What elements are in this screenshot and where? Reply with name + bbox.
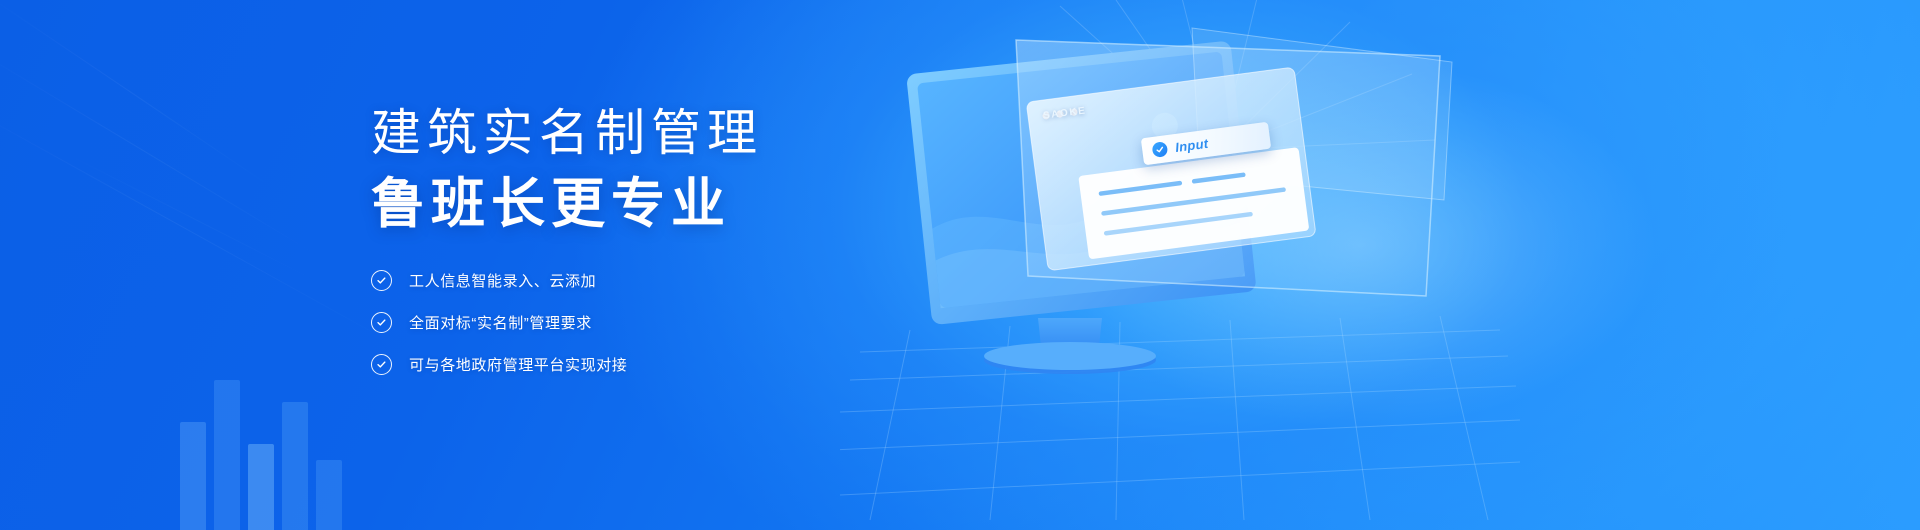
check-circle-icon: [371, 354, 392, 375]
check-circle-icon: [1151, 141, 1168, 158]
hero-copy: 建筑实名制管理 鲁班长更专业 工人信息智能录入、云添加 全面对标“实名制”管理要…: [371, 104, 891, 392]
floor-grid: [840, 316, 1520, 520]
feature-item: 可与各地政府管理平台实现对接: [371, 350, 891, 378]
headline-primary: 建筑实名制管理: [371, 104, 891, 162]
monitor-base-top: [984, 342, 1156, 370]
feature-label: 全面对标“实名制”管理要求: [409, 312, 592, 333]
feature-label: 工人信息智能录入、云添加: [409, 270, 596, 291]
headline-secondary: 鲁班长更专业: [371, 174, 891, 234]
input-card-label: Input: [1174, 136, 1209, 155]
feature-label: 可与各地政府管理平台实现对接: [409, 354, 627, 375]
check-circle-icon: [371, 312, 392, 333]
feature-list: 工人信息智能录入、云添加 全面对标“实名制”管理要求 可与各地政府管理平台实现对…: [371, 266, 891, 378]
monitor-illustration: [840, 0, 1520, 530]
feature-item: 工人信息智能录入、云添加: [371, 266, 891, 294]
hero-banner: 建筑实名制管理 鲁班长更专业 工人信息智能录入、云添加 全面对标“实名制”管理要…: [0, 0, 1920, 530]
feature-item: 全面对标“实名制”管理要求: [371, 308, 891, 336]
check-circle-icon: [371, 270, 392, 291]
bar-chart-decoration: [170, 330, 360, 530]
